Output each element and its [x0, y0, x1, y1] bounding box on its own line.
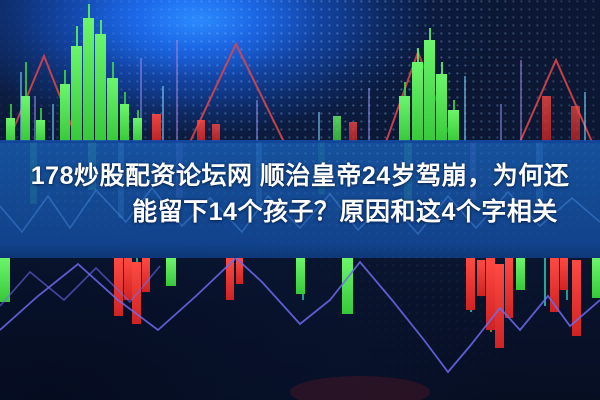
headline-line-1: 178炒股配资论坛网 顺治皇帝24岁驾崩，为何还 [0, 158, 600, 194]
headline-band-top-edge [0, 140, 600, 143]
lower-candlesticks [0, 256, 600, 348]
headline-text: 178炒股配资论坛网 顺治皇帝24岁驾崩，为何还 能留下14个孩子？原因和这4个… [0, 158, 600, 230]
headline-line-2: 能留下14个孩子？原因和这4个字相关 [0, 194, 600, 230]
bottom-red-glow [290, 376, 430, 400]
upper-candlesticks [6, 4, 580, 142]
promo-banner: 178炒股配资论坛网 顺治皇帝24岁驾崩，为何还 能留下14个孩子？原因和这4个… [0, 0, 600, 400]
